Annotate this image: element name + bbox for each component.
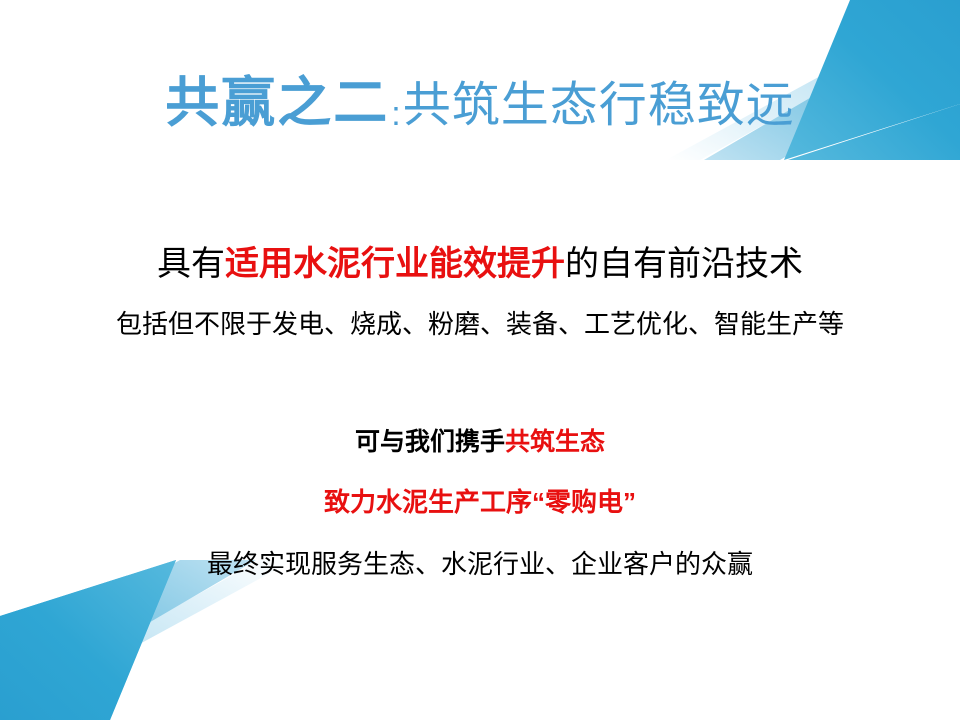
title-subtitle-text: 共筑生态行稳致远 xyxy=(403,79,795,132)
ribbon-bottom-left-svg xyxy=(0,560,300,720)
decorative-ribbon-bottom-left xyxy=(0,560,300,720)
text-line-zero-power: 致力水泥生产工序“零购电” xyxy=(0,482,960,519)
text-line-winwin: 最终实现服务生态、水泥行业、企业客户的众赢 xyxy=(0,544,960,581)
partner-highlight: 共筑生态 xyxy=(505,428,605,456)
title-main-text: 共赢之二 xyxy=(165,73,389,133)
tech-highlight: 适用水泥行业能效提升 xyxy=(225,245,565,283)
text-line-partnership: 可与我们携手共筑生态 xyxy=(0,422,960,458)
text-line-technology: 具有适用水泥行业能效提升的自有前沿技术 xyxy=(0,236,960,285)
scope-text: 包括但不限于发电、烧成、粉磨、装备、工艺优化、智能生产等 xyxy=(116,309,844,339)
ribbon-band-pale xyxy=(0,560,294,720)
tech-suffix: 的自有前沿技术 xyxy=(565,245,803,283)
tech-prefix: 具有 xyxy=(157,245,225,283)
slide-title: 共赢之二:共筑生态行稳致远 xyxy=(0,58,960,137)
partner-prefix: 可与我们携手 xyxy=(355,428,505,456)
text-line-scope: 包括但不限于发电、烧成、粉磨、装备、工艺优化、智能生产等 xyxy=(0,304,960,341)
zero-power-text: 致力水泥生产工序“零购电” xyxy=(324,487,636,517)
ribbon-band-mid xyxy=(0,560,256,710)
title-colon: : xyxy=(389,95,402,133)
winwin-text: 最终实现服务生态、水泥行业、企业客户的众赢 xyxy=(207,549,753,579)
slide-canvas: 共赢之二:共筑生态行稳致远 具有适用水泥行业能效提升的自有前沿技术 包括但不限于… xyxy=(0,0,960,720)
ribbon-band-deep xyxy=(0,560,176,720)
ribbon-band-deep-fill xyxy=(0,560,176,720)
